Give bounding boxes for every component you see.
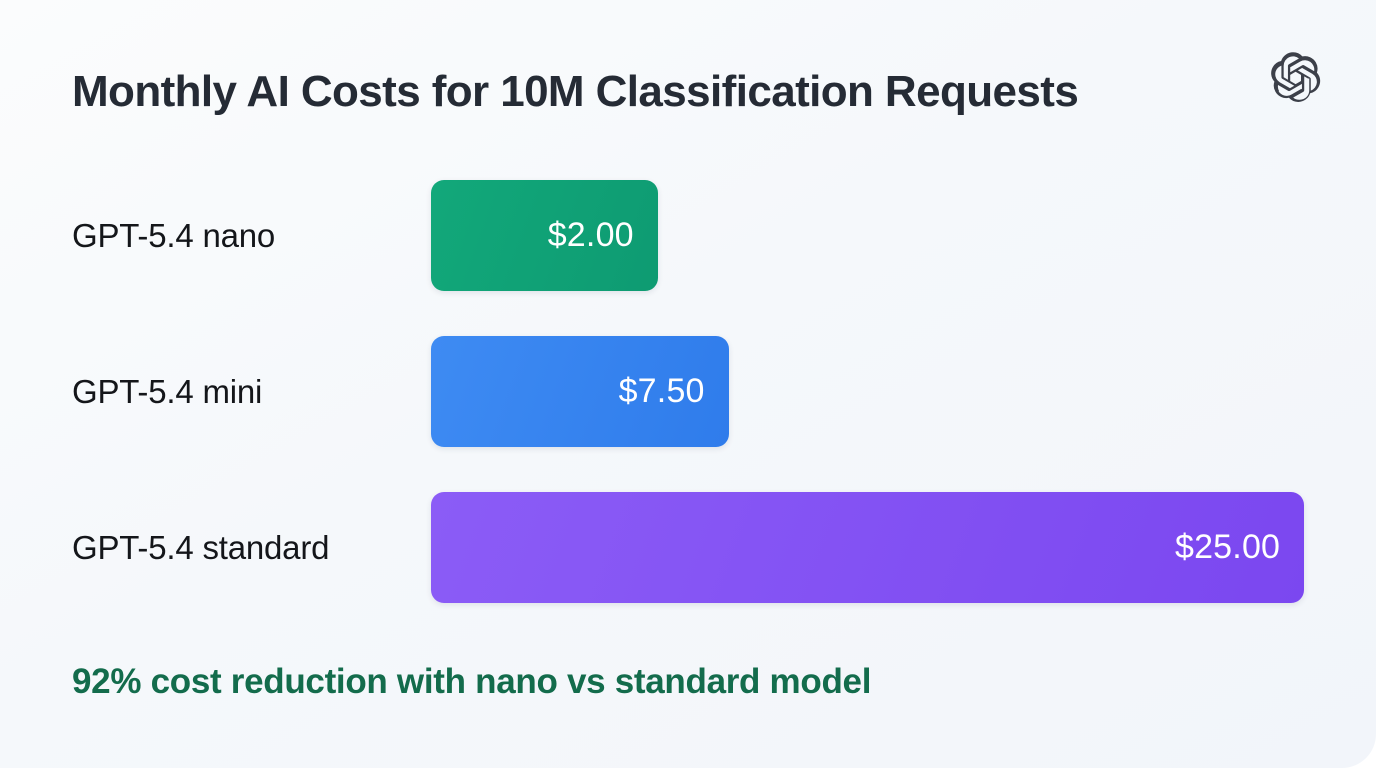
bar-fill-standard[interactable]: $25.00 [431,492,1304,603]
bar-value-mini: $7.50 [619,372,729,411]
bar-fill-mini[interactable]: $7.50 [431,336,729,447]
bar-chart: GPT-5.4 nano $2.00 GPT-5.4 mini $7.50 GP… [0,180,1376,648]
bar-track-standard: $25.00 [431,492,1376,603]
openai-logo-icon [1266,48,1326,108]
chart-footnote: 92% cost reduction with nano vs standard… [72,659,871,705]
bar-label-standard: GPT-5.4 standard [72,492,329,603]
bar-track-mini: $7.50 [431,336,1376,447]
bar-row-nano: GPT-5.4 nano $2.00 [0,180,1376,291]
bar-track-nano: $2.00 [431,180,1376,291]
chart-card: Monthly AI Costs for 10M Classification … [0,0,1376,768]
bar-value-nano: $2.00 [548,216,658,255]
bar-row-mini: GPT-5.4 mini $7.50 [0,336,1376,447]
bar-row-standard: GPT-5.4 standard $25.00 [0,492,1376,603]
bar-label-mini: GPT-5.4 mini [72,336,262,447]
page-title: Monthly AI Costs for 10M Classification … [72,64,1078,120]
bar-value-standard: $25.00 [1175,528,1304,567]
bar-fill-nano[interactable]: $2.00 [431,180,658,291]
bar-label-nano: GPT-5.4 nano [72,180,275,291]
